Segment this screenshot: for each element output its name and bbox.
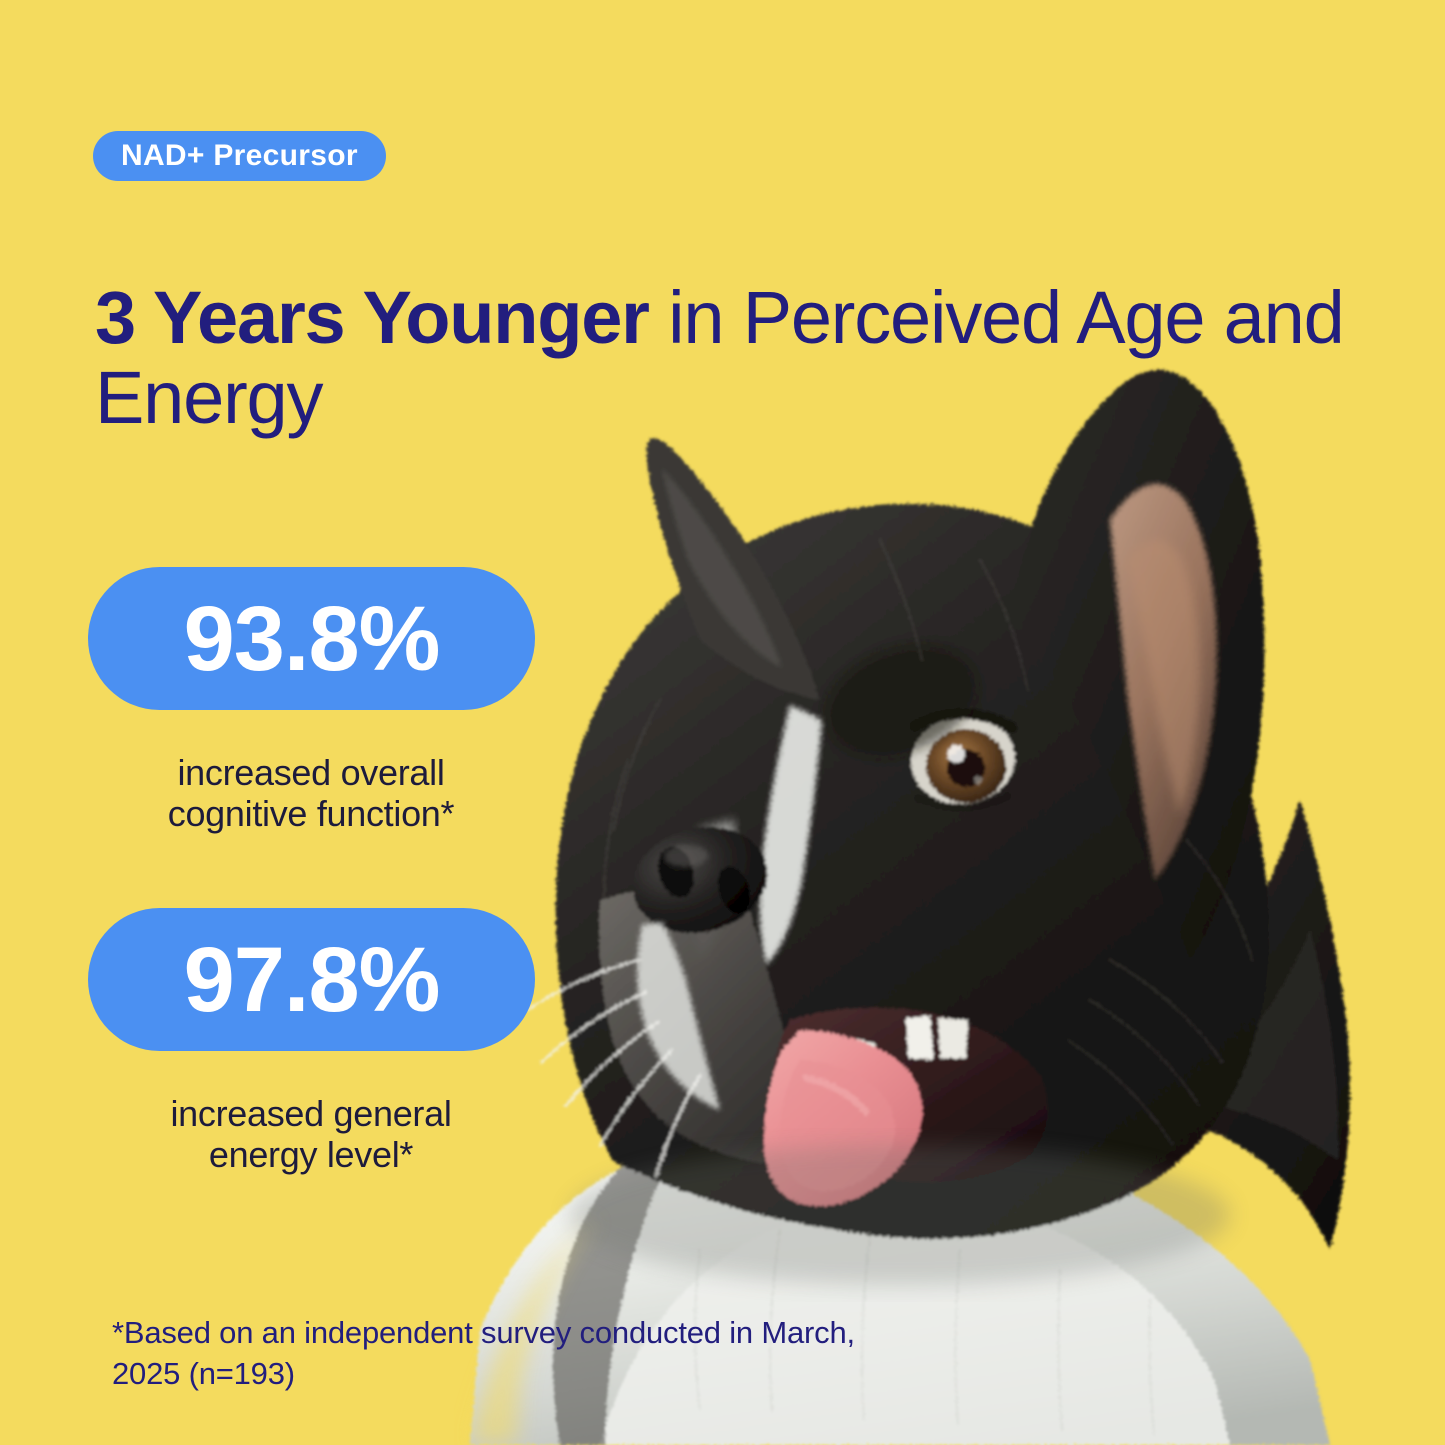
headline-strong: 3 Years Younger bbox=[95, 276, 649, 359]
badge-label: NAD+ Precursor bbox=[121, 141, 358, 171]
stat-caption-cognitive-line2: cognitive function* bbox=[168, 793, 454, 834]
overlay-content: NAD+ Precursor 3 Years Younger in Percei… bbox=[0, 0, 1445, 1445]
stat-caption-energy-line1: increased general bbox=[170, 1093, 451, 1134]
stat-caption-energy: increased general energy level* bbox=[76, 1093, 546, 1175]
footnote-disclaimer: *Based on an independent survey conducte… bbox=[112, 1313, 872, 1395]
stat-pill-cognitive: 93.8% bbox=[88, 567, 535, 710]
stat-caption-cognitive: increased overall cognitive function* bbox=[76, 752, 546, 834]
stat-caption-energy-line2: energy level* bbox=[209, 1134, 413, 1175]
stat-pill-energy: 97.8% bbox=[88, 908, 535, 1051]
stat-caption-cognitive-line1: increased overall bbox=[177, 752, 444, 793]
page-title: 3 Years Younger in Perceived Age and Ene… bbox=[95, 278, 1345, 439]
stat-value-cognitive: 93.8% bbox=[184, 593, 440, 685]
footnote-line1: *Based on an independent survey conducte… bbox=[112, 1315, 753, 1350]
stat-value-energy: 97.8% bbox=[184, 934, 440, 1026]
marketing-banner: NAD+ Precursor 3 Years Younger in Percei… bbox=[0, 0, 1445, 1445]
nad-precursor-badge: NAD+ Precursor bbox=[93, 131, 386, 181]
